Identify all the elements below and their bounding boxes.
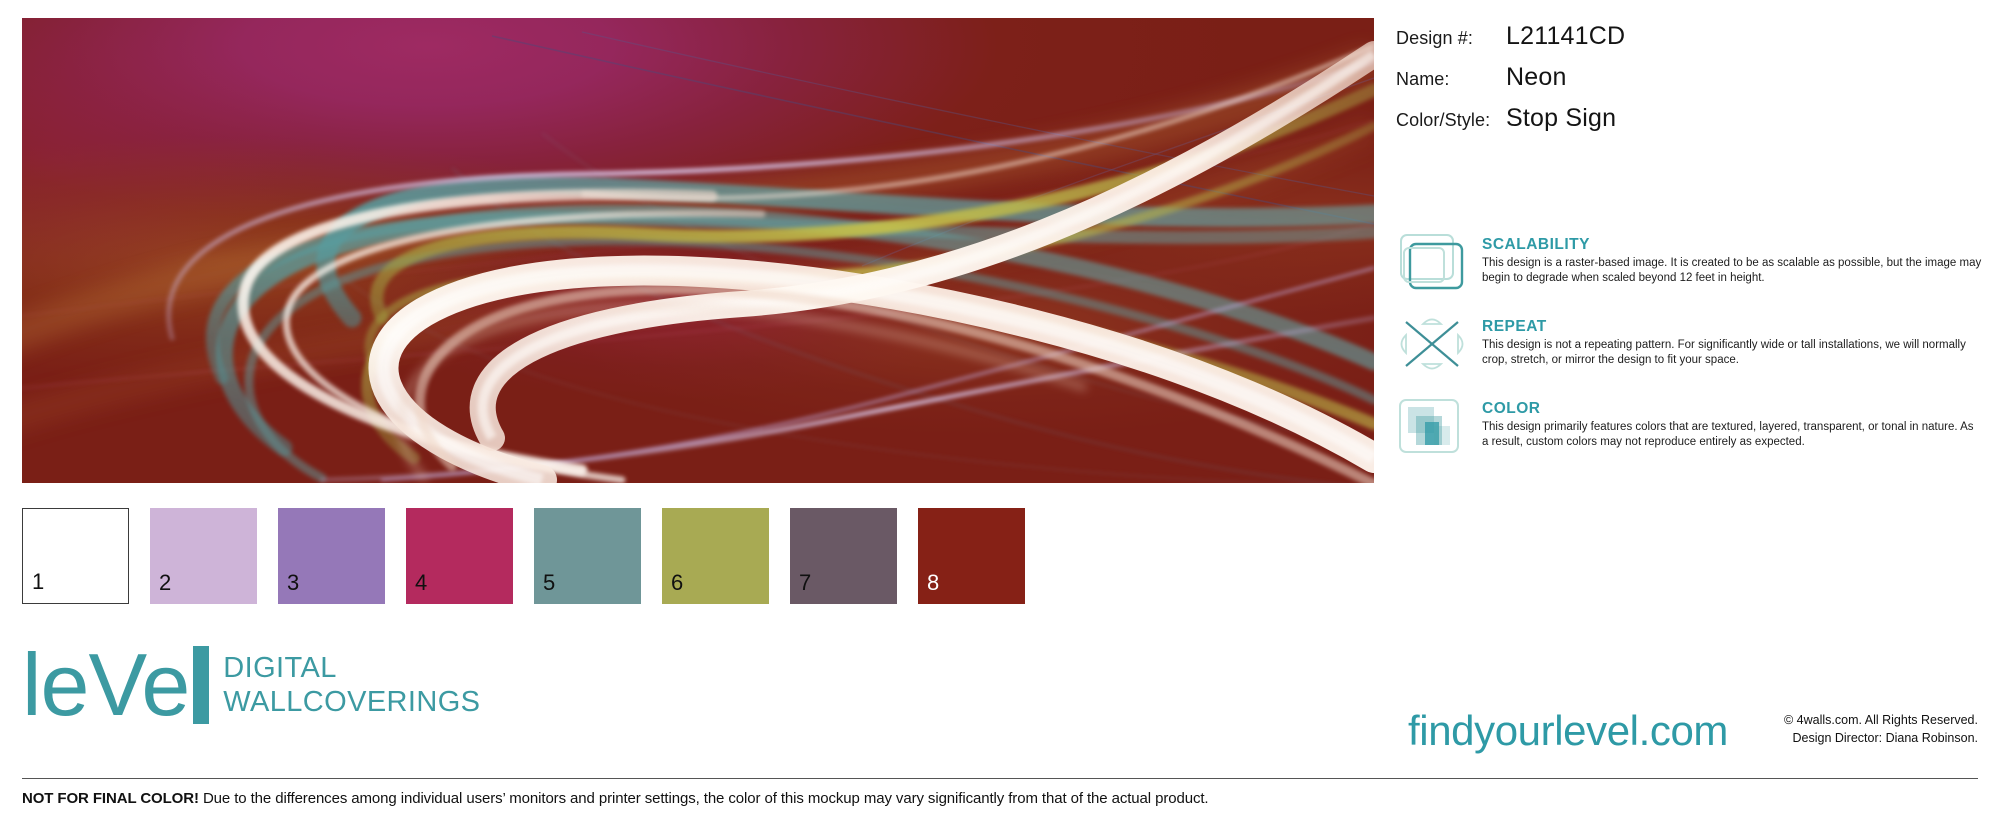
color-swatch[interactable]: 6 [662, 508, 769, 604]
color-swatch[interactable]: 5 [534, 508, 641, 604]
disclaimer-body: Due to the differences among individual … [199, 790, 1209, 807]
metadata-row-design-number: Design #: L21141CD [1396, 22, 1976, 51]
artwork-preview[interactable] [22, 18, 1374, 483]
design-attributes: SCALABILITY This design is a raster-base… [1396, 232, 1992, 478]
swatch-number: 8 [918, 572, 939, 604]
artwork-ribbons [22, 18, 1374, 483]
repeat-icon [1396, 314, 1470, 374]
color-swatch[interactable]: 7 [790, 508, 897, 604]
design-name-label: Name: [1396, 69, 1506, 90]
info-title-repeat: REPEAT [1482, 318, 1982, 336]
design-name-value: Neon [1506, 63, 1567, 92]
disclaimer-heading: NOT FOR FINAL COLOR! [22, 790, 199, 807]
info-block-scalability: SCALABILITY This design is a raster-base… [1396, 232, 1992, 292]
color-icon [1396, 396, 1470, 456]
design-number-value: L21141CD [1506, 22, 1625, 51]
info-title-color: COLOR [1482, 400, 1982, 418]
website-url[interactable]: findyourlevel.com [1408, 707, 1728, 755]
design-number-label: Design #: [1396, 28, 1506, 49]
logo-tagline: DIGITAL WALLCOVERINGS [223, 651, 480, 719]
metadata-row-color-style: Color/Style: Stop Sign [1396, 104, 1976, 133]
copyright-line-1: © 4walls.com. All Rights Reserved. [1784, 712, 1978, 730]
logo-tagline-line1: DIGITAL [223, 651, 480, 685]
design-spec-sheet: Design #: L21141CD Name: Neon Color/Styl… [0, 0, 2000, 827]
color-swatch-row: 12345678 [22, 508, 1025, 604]
color-style-value: Stop Sign [1506, 104, 1616, 133]
color-style-label: Color/Style: [1396, 110, 1506, 131]
logo-wordmark-text: leVe [22, 645, 189, 726]
logo-bar-icon [193, 646, 209, 724]
swatch-number: 1 [23, 571, 44, 603]
info-title-scalability: SCALABILITY [1482, 236, 1982, 254]
color-disclaimer: NOT FOR FINAL COLOR! Due to the differen… [22, 790, 1208, 807]
color-swatch[interactable]: 8 [918, 508, 1025, 604]
info-text-color: This design primarily features colors th… [1482, 420, 1982, 450]
metadata-row-name: Name: Neon [1396, 63, 1976, 92]
color-swatch[interactable]: 4 [406, 508, 513, 604]
swatch-number: 4 [406, 572, 427, 604]
copyright-notice: © 4walls.com. All Rights Reserved. Desig… [1784, 712, 1978, 748]
footer-divider [22, 778, 1978, 779]
swatch-number: 7 [790, 572, 811, 604]
logo-wordmark: leVe [22, 645, 211, 726]
logo-tagline-line2: WALLCOVERINGS [223, 685, 480, 719]
scalability-icon [1396, 232, 1470, 292]
color-swatch[interactable]: 3 [278, 508, 385, 604]
info-text-scalability: This design is a raster-based image. It … [1482, 256, 1982, 286]
swatch-number: 5 [534, 572, 555, 604]
copyright-line-2: Design Director: Diana Robinson. [1784, 730, 1978, 748]
info-text-repeat: This design is not a repeating pattern. … [1482, 338, 1982, 368]
swatch-number: 2 [150, 572, 171, 604]
color-swatch[interactable]: 2 [150, 508, 257, 604]
color-swatch[interactable]: 1 [22, 508, 129, 604]
swatch-number: 3 [278, 572, 299, 604]
info-block-color: COLOR This design primarily features col… [1396, 396, 1992, 456]
design-metadata: Design #: L21141CD Name: Neon Color/Styl… [1396, 22, 1976, 145]
swatch-number: 6 [662, 572, 683, 604]
brand-logo: leVe DIGITAL WALLCOVERINGS [22, 645, 480, 726]
info-block-repeat: REPEAT This design is not a repeating pa… [1396, 314, 1992, 374]
